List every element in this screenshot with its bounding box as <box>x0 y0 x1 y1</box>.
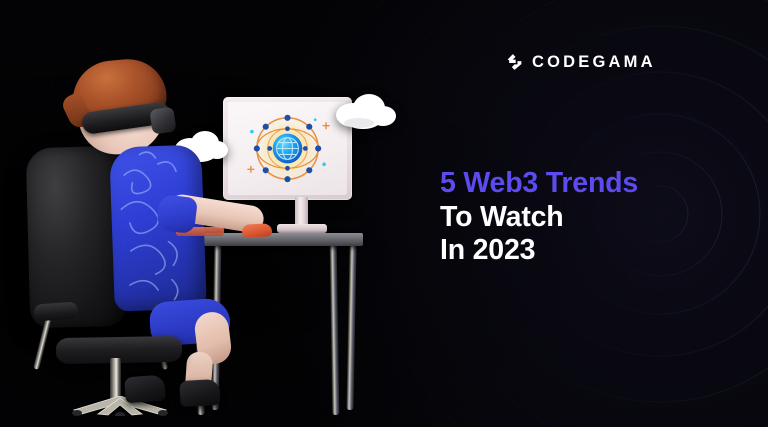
desk-leg <box>346 245 356 410</box>
character-shoe <box>124 375 166 404</box>
chair-armrest <box>33 301 78 321</box>
headline-line-2: To Watch <box>440 201 638 235</box>
character-shoe <box>179 379 220 407</box>
monitor-stand-base <box>277 224 327 233</box>
character-sleeve <box>156 194 198 234</box>
codegama-logo-text: CODEGAMA <box>532 54 656 71</box>
headline-line-1: 5 Web3 Trends <box>440 167 638 201</box>
computer-mouse <box>242 223 273 238</box>
vr-headset-pod <box>149 106 176 134</box>
headline-line-3: In 2023 <box>440 234 638 268</box>
codegama-logo[interactable]: CODEGAMA <box>505 52 656 72</box>
codegama-logo-mark <box>505 52 525 72</box>
cloud-icon <box>333 88 397 130</box>
monitor-stand-neck <box>295 197 308 227</box>
monitor-screen <box>228 102 347 195</box>
web3-trends-banner: CODEGAMA 5 Web3 Trends To Watch In 2023 <box>0 0 768 427</box>
desk-leg <box>330 245 340 415</box>
headline-block: 5 Web3 Trends To Watch In 2023 <box>440 167 638 268</box>
